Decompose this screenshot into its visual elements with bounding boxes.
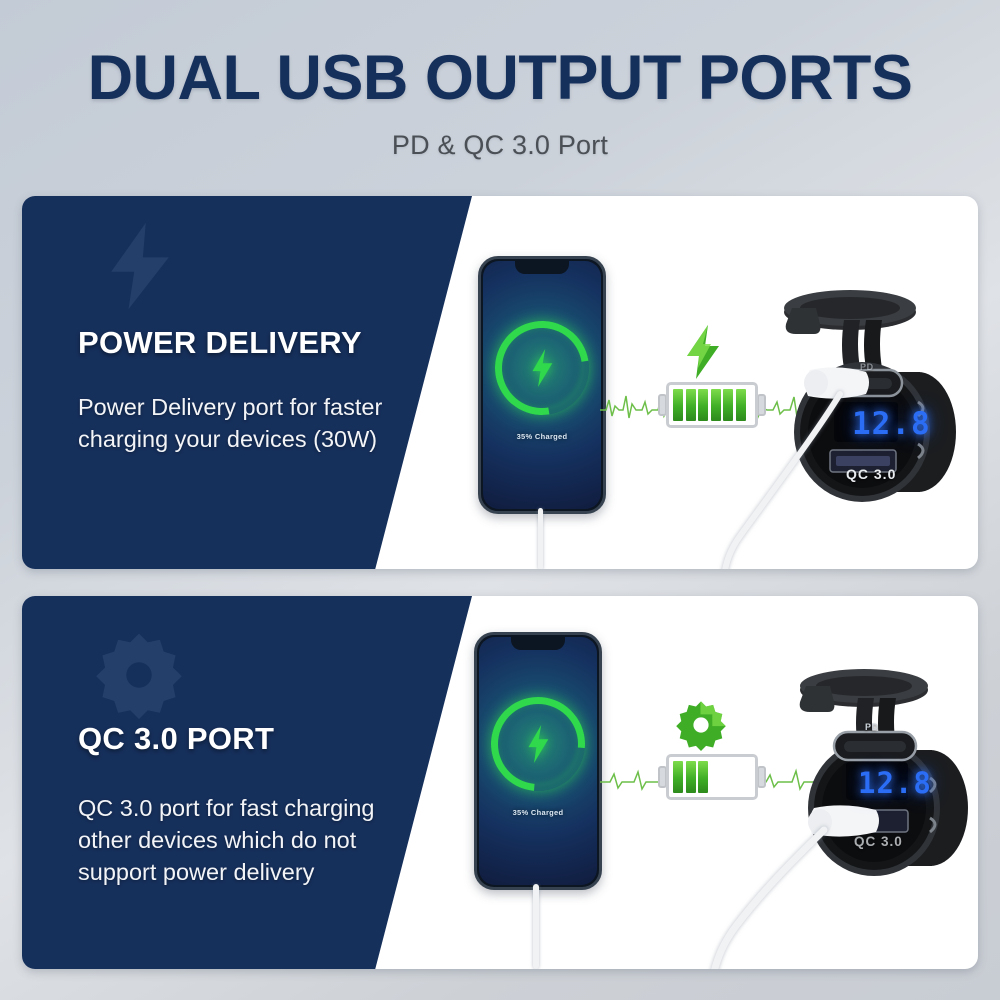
page-title: DUAL USB OUTPUT PORTS [0,46,1000,110]
lightning-bolt-icon [94,220,186,312]
panel-heading: POWER DELIVERY [78,325,362,361]
voltmeter-display: 12.8 [858,766,932,800]
charger-cable [722,386,862,569]
panel-description: QC 3.0 port for fast charging other devi… [78,793,398,889]
smartphone: 35% Charged [478,256,606,514]
charging-bolt-icon [525,725,551,763]
green-lightning-bolt-icon [678,324,726,380]
battery-bar [711,389,721,421]
charge-percentage-label: 35% Charged [483,432,601,441]
gear-icon [88,624,190,726]
charging-bolt-icon [529,349,555,387]
feature-panel-power-delivery: POWER DELIVERY Power Delivery port for f… [22,196,978,569]
pd-port-label: PD [860,362,874,372]
infographic-page: DUAL USB OUTPUT PORTS PD & QC 3.0 Port P… [0,0,1000,1000]
phone-screen: 35% Charged [479,637,597,885]
panel-description: Power Delivery port for faster charging … [78,392,388,456]
battery-bar [673,761,683,793]
qc-port-label: QC 3.0 [854,834,903,849]
charger-cable [712,822,842,969]
voltmeter-display: 12.8 [852,406,931,442]
page-subtitle: PD & QC 3.0 Port [0,130,1000,161]
phone-cable [533,884,539,969]
pd-port-label: PD [865,722,879,732]
panel-heading: QC 3.0 PORT [78,721,274,757]
phone-notch [515,259,569,274]
green-gear-icon [674,698,728,752]
battery-bar [686,761,696,793]
smartphone: 35% Charged [474,632,602,890]
battery-bar [686,389,696,421]
battery-bar [698,761,708,793]
phone-screen: 35% Charged [483,261,601,509]
phone-notch [511,635,565,650]
battery-indicator [658,754,766,800]
phone-cable [538,508,543,569]
battery-bar [698,389,708,421]
header: DUAL USB OUTPUT PORTS PD & QC 3.0 Port [0,46,1000,161]
battery-body [666,754,758,800]
charge-percentage-label: 35% Charged [479,808,597,817]
feature-panel-qc-3-0: QC 3.0 PORT QC 3.0 port for fast chargin… [22,596,978,969]
navy-wedge [22,196,472,569]
battery-bar [673,389,683,421]
